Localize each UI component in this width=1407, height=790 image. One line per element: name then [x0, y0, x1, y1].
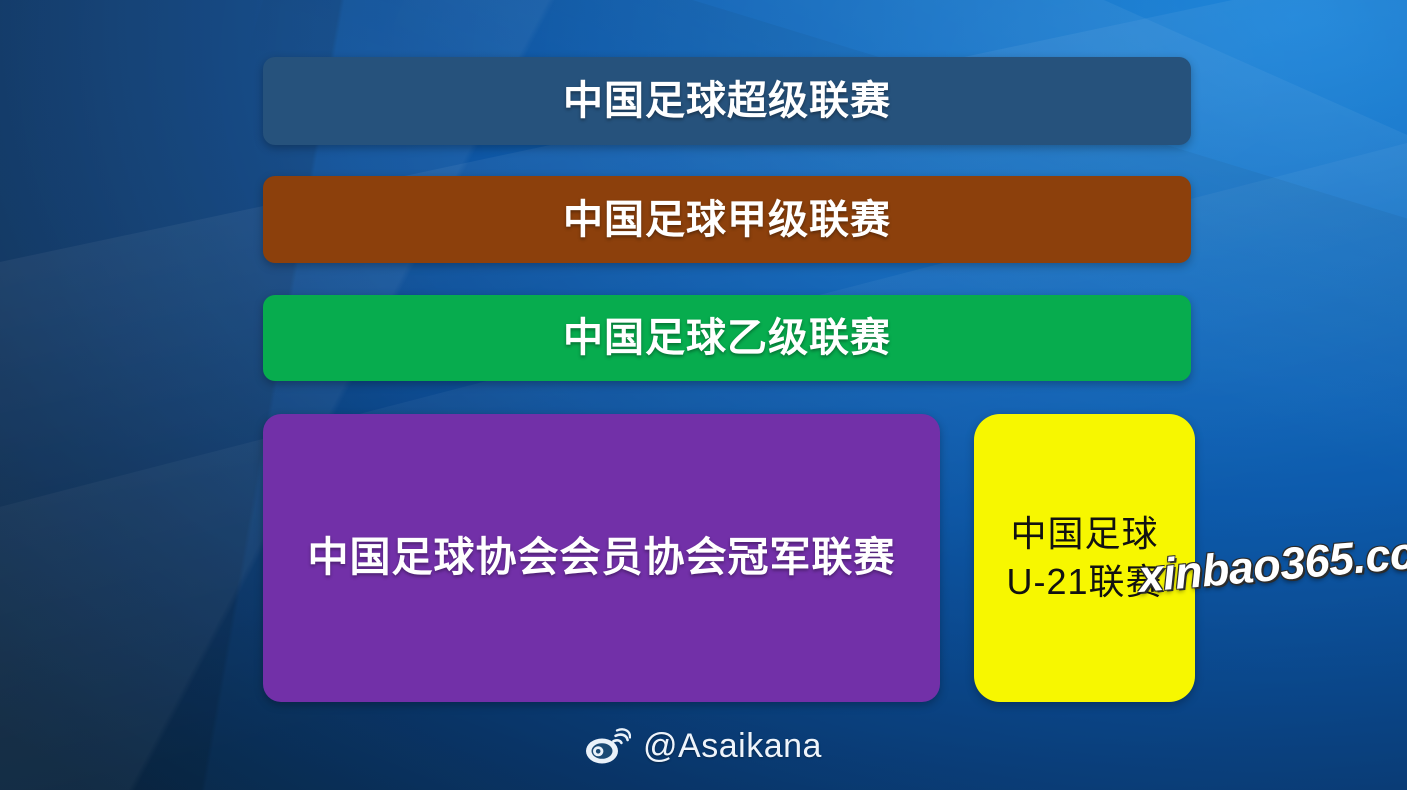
slide-canvas: 中国足球超级联赛 中国足球甲级联赛 中国足球乙级联赛 中国足球协会会员协会冠军联…: [0, 0, 1407, 790]
tier-label: 中国足球协会会员协会冠军联赛: [308, 535, 896, 580]
tier-label: 中国足球甲级联赛: [563, 198, 891, 242]
tier-china-league-two: 中国足球乙级联赛: [263, 295, 1191, 381]
tier-china-league-one: 中国足球甲级联赛: [263, 176, 1191, 263]
credit: @Asaikana: [0, 726, 1407, 766]
tier-label: 中国足球超级联赛: [563, 79, 891, 123]
tier-label: 中国足球乙级联赛: [563, 316, 891, 360]
tier-chinese-super-league: 中国足球超级联赛: [263, 57, 1191, 145]
weibo-icon: [585, 726, 631, 766]
tier-label-line1: 中国足球: [1010, 513, 1158, 554]
tier-champions-league: 中国足球协会会员协会冠军联赛: [263, 414, 940, 702]
weibo-handle: @Asaikana: [643, 727, 822, 766]
